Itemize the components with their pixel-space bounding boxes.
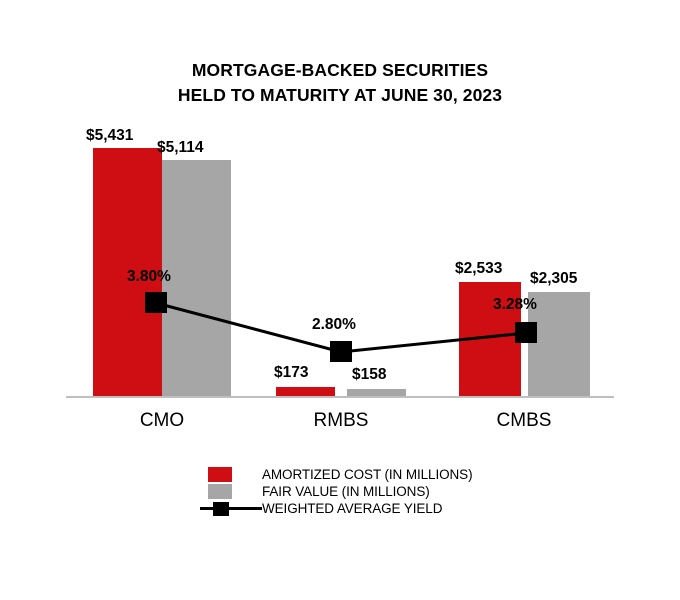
value-label-amortized-rmbs: $173 [274,364,308,382]
legend-item-fair-value: FAIR VALUE (IN MILLIONS) [200,483,530,500]
gray-square-icon [208,484,232,499]
yield-label-cmo: 3.80% [127,268,171,286]
yield-label-rmbs: 2.80% [312,316,356,334]
yield-marker-rmbs [330,341,352,362]
value-label-fair-cmbs: $2,305 [530,270,577,288]
bar-fair-cmo [162,160,231,396]
axis-baseline [66,396,614,398]
value-label-amortized-cmbs: $2,533 [455,260,502,278]
legend-label-amortized-cost: AMORTIZED COST (IN MILLIONS) [262,466,472,483]
bar-amortized-rmbs [276,387,335,396]
black-square-marker-icon [213,502,229,516]
chart-container: MORTGAGE-BACKED SECURITIES HELD TO MATUR… [0,0,680,600]
value-label-fair-cmo: $5,114 [157,139,204,157]
red-square-icon [208,467,232,482]
legend-item-amortized-cost: AMORTIZED COST (IN MILLIONS) [200,466,530,483]
line-icon [200,507,262,510]
bar-fair-cmbs [528,292,590,396]
legend-label-weighted-average-yield: WEIGHTED AVERAGE YIELD [262,500,442,517]
yield-label-cmbs: 3.28% [493,296,537,314]
category-label-rmbs: RMBS [271,410,411,432]
legend-item-weighted-average-yield: WEIGHTED AVERAGE YIELD [200,500,530,517]
legend-label-fair-value: FAIR VALUE (IN MILLIONS) [262,483,430,500]
bar-fair-rmbs [347,389,406,396]
value-label-fair-rmbs: $158 [352,366,386,384]
legend-swatch-wrap-amortized [200,466,262,483]
chart-legend: AMORTIZED COST (IN MILLIONS) FAIR VALUE … [200,466,530,517]
value-label-amortized-cmo: $5,431 [86,127,133,145]
category-label-cmo: CMO [92,410,232,432]
legend-swatch-wrap-fair [200,483,262,500]
legend-swatch-wrap-yield [200,500,262,517]
category-label-cmbs: CMBS [454,410,594,432]
